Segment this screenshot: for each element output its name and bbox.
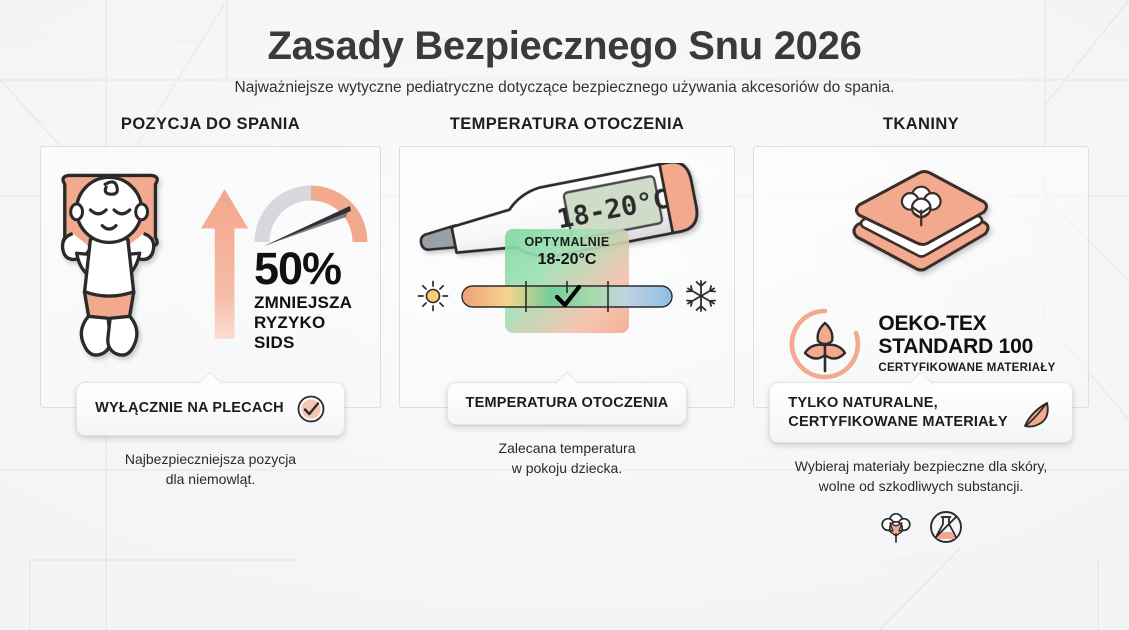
header: Zasady Bezpiecznego Snu 2026 Najważniejs…: [0, 0, 1129, 99]
snowflake-icon: [684, 279, 718, 313]
sids-stat: 50% ZMNIEJSZA RYZYKO SIDS: [254, 248, 370, 353]
tag-wrap-fabrics: TYLKO NATURALNE, CERTYFIKOWANE MATERIAŁY: [753, 382, 1089, 444]
sun-icon: [416, 279, 450, 313]
baby-on-back-icon: [51, 161, 199, 376]
leaf-icon: [1020, 396, 1054, 430]
column-temperature: TEMPERATURA OTOCZENIA: [399, 115, 735, 545]
optimal-label: OPTYMALNIE: [497, 235, 637, 249]
sids-stat-line2: RYZYKO SIDS: [254, 313, 370, 353]
tag-label-sleep-position: WYŁĄCZNIE NA PLECACH: [95, 399, 284, 418]
tag-label-temperature: TEMPERATURA OTOCZENIA: [466, 394, 669, 413]
temperature-scale: OPTYMALNIE 18-20°C: [416, 279, 718, 313]
cert-line3: CERTYFIKOWANE MATERIAŁY: [878, 362, 1055, 374]
columns-container: POZYCJA DO SPANIA: [0, 115, 1129, 545]
column-fabrics: TKANINY: [753, 115, 1089, 545]
tag-card-temperature[interactable]: TEMPERATURA OTOCZENIA: [447, 382, 688, 425]
gauge-icon: [252, 184, 370, 248]
sids-stat-number: 50%: [254, 248, 370, 291]
column-heading-sleep-position: POZYCJA DO SPANIA: [121, 115, 300, 134]
no-chemicals-icon: [928, 509, 964, 545]
check-circle-icon: [296, 394, 326, 424]
column-heading-fabrics: TKANINY: [883, 115, 959, 134]
page-subtitle: Najważniejsze wytyczne pediatryczne doty…: [0, 77, 1129, 99]
panel-sleep-position: 50% ZMNIEJSZA RYZYKO SIDS: [40, 146, 381, 408]
panel-temperature: 18-20°C OPTYMALNIE 18-20°C: [399, 146, 735, 408]
cert-line2: STANDARD 100: [878, 336, 1055, 359]
up-arrow-icon: [199, 184, 250, 344]
column-sleep-position: POZYCJA DO SPANIA: [40, 115, 381, 545]
column-heading-temperature: TEMPERATURA OTOCZENIA: [450, 115, 685, 134]
fabrics-footer-icons: [878, 509, 964, 545]
page-title: Zasady Bezpiecznego Snu 2026: [0, 24, 1129, 69]
caption-fabrics: Wybieraj materiały bezpieczne dla skóry,…: [795, 457, 1048, 497]
cotton-boll-icon: [878, 509, 914, 545]
panel-fabrics: OEKO-TEX STANDARD 100 CERTYFIKOWANE MATE…: [753, 146, 1089, 408]
tag-card-fabrics[interactable]: TYLKO NATURALNE, CERTYFIKOWANE MATERIAŁY: [769, 382, 1072, 444]
optimal-range-text: OPTYMALNIE 18-20°C: [497, 235, 637, 269]
leaf-circle-icon: [786, 305, 864, 383]
caption-temperature: Zalecana temperatura w pokoju dziecka.: [499, 439, 636, 479]
temperature-gradient-bar[interactable]: [460, 279, 674, 313]
cert-line1: OEKO-TEX: [878, 313, 1055, 336]
tag-wrap-temperature: TEMPERATURA OTOCZENIA: [399, 382, 735, 425]
folded-fabric-stack-icon: [841, 161, 1001, 291]
caption-sleep-position: Najbezpieczniejsza pozycja dla niemowląt…: [125, 450, 296, 490]
tag-card-sleep-position[interactable]: WYŁĄCZNIE NA PLECACH: [76, 382, 345, 436]
sids-stat-line1: ZMNIEJSZA: [254, 293, 370, 313]
optimal-value: 18-20°C: [497, 251, 637, 269]
tag-wrap-sleep-position: WYŁĄCZNIE NA PLECACH: [40, 382, 381, 436]
tag-label-fabrics: TYLKO NATURALNE, CERTYFIKOWANE MATERIAŁY: [788, 394, 1007, 432]
